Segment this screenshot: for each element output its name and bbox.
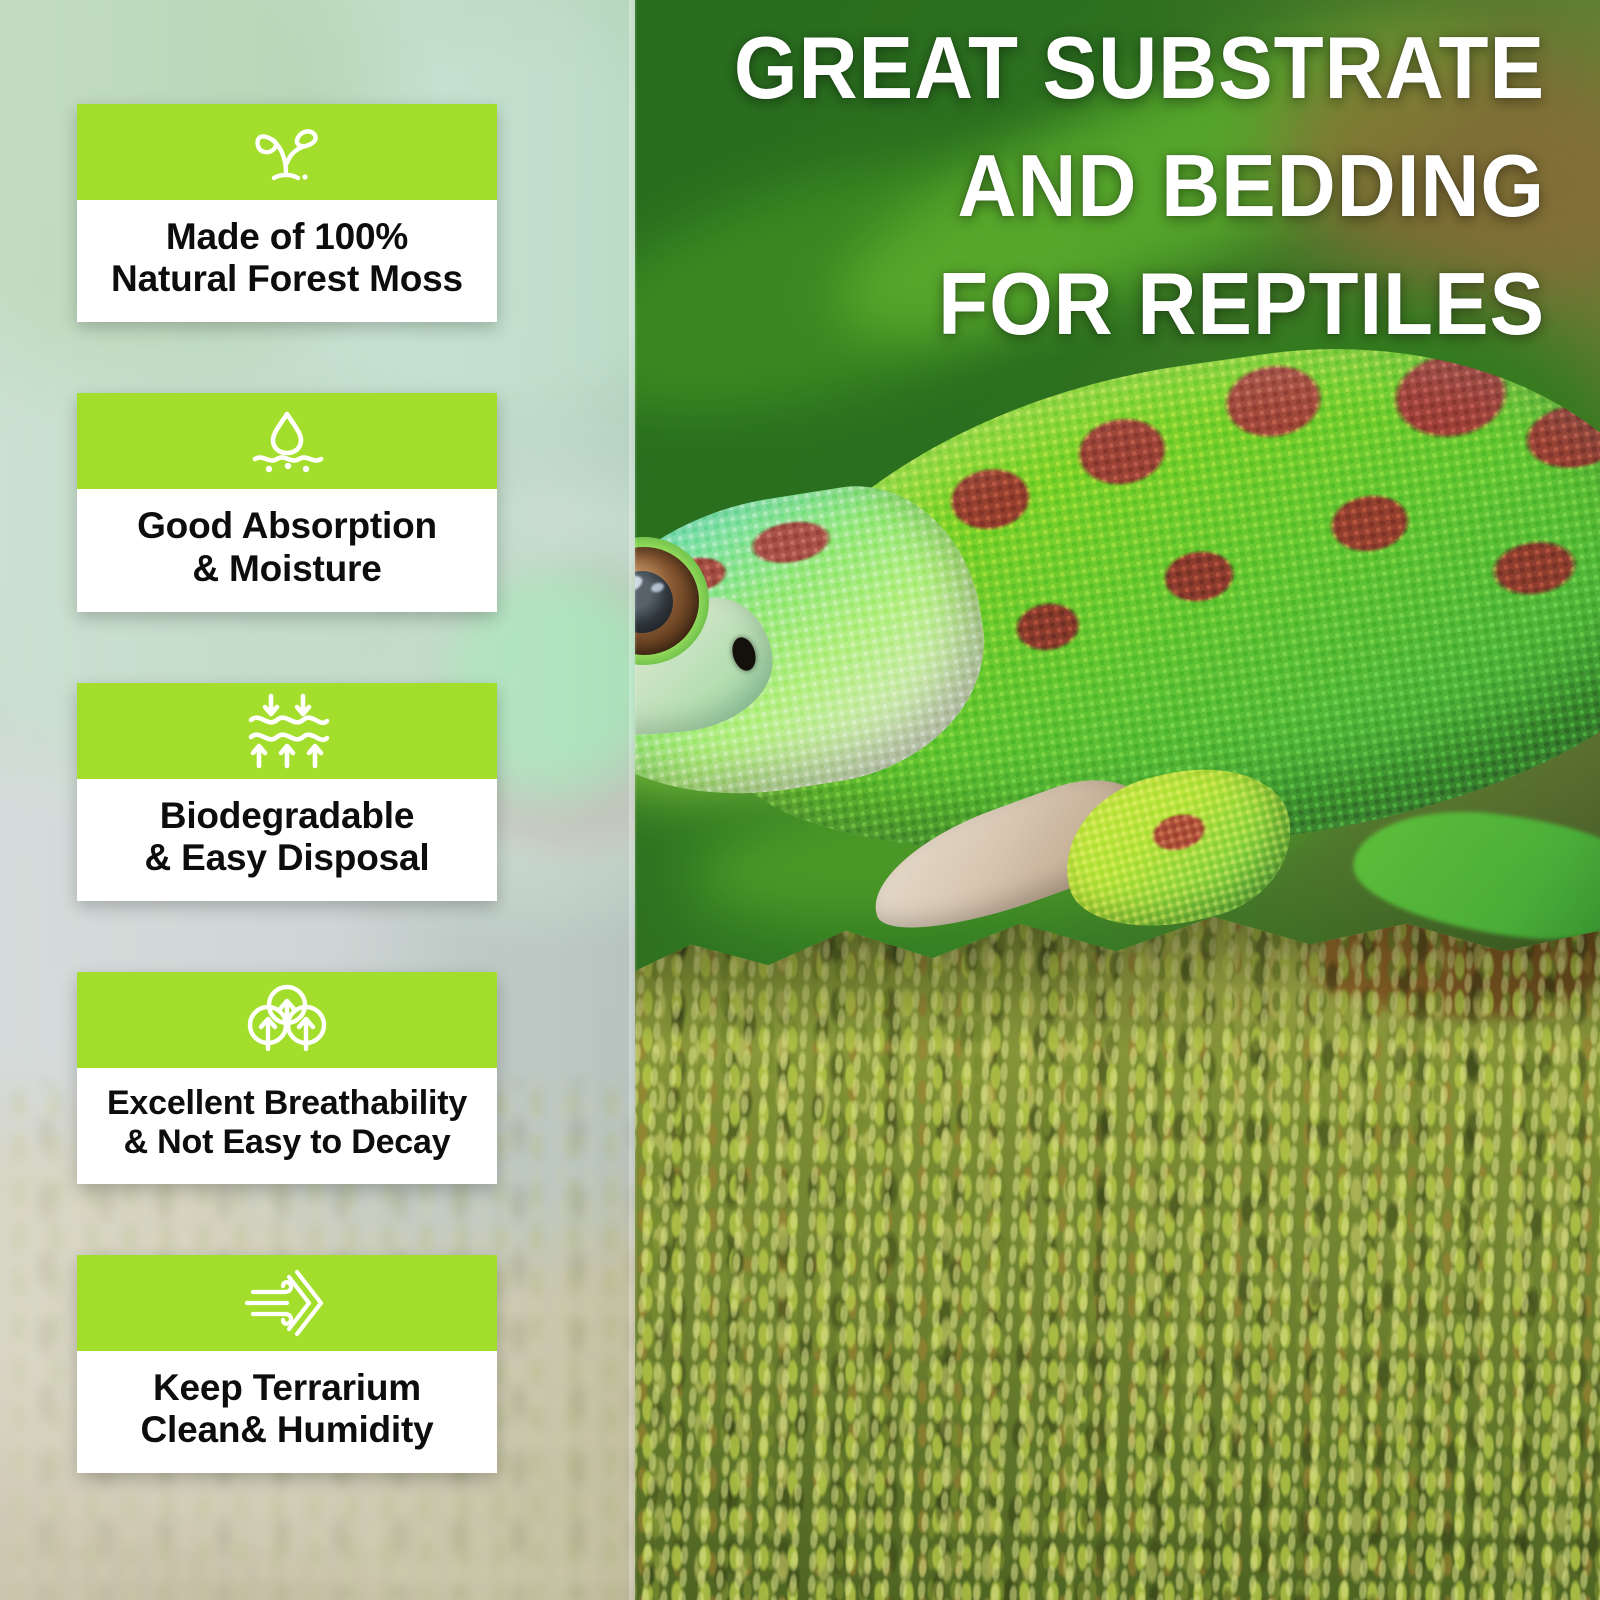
feature-card-keep-terrarium-clean: Keep Terrarium Clean& Humidity xyxy=(77,1255,497,1473)
feature-line-2: & Moisture xyxy=(87,548,487,590)
feature-line-1: Made of 100% xyxy=(87,216,487,258)
feature-card-natural-forest-moss: Made of 100% Natural Forest Moss xyxy=(77,104,497,322)
feature-line-2: & Easy Disposal xyxy=(87,837,487,879)
feature-card-list: Made of 100% Natural Forest Moss Good Ab… xyxy=(77,104,497,1473)
feature-line-1: Biodegradable xyxy=(87,795,487,837)
product-feature-banner: GREAT SUBSTRATE AND BEDDING FOR REPTILES… xyxy=(0,0,1600,1600)
moss-bedding xyxy=(633,910,1600,1600)
feature-card-label: Excellent Breathability & Not Easy to De… xyxy=(77,1068,497,1184)
feature-line-1: Good Absorption xyxy=(87,505,487,547)
feature-line-1: Excellent Breathability xyxy=(87,1084,487,1123)
airflow-waves-arrows-icon xyxy=(77,683,497,779)
feature-line-2: Clean& Humidity xyxy=(87,1409,487,1451)
feature-line-2: & Not Easy to Decay xyxy=(87,1123,487,1162)
sprout-icon xyxy=(77,104,497,200)
feature-card-label: Made of 100% Natural Forest Moss xyxy=(77,200,497,322)
feature-card-biodegradable: Biodegradable & Easy Disposal xyxy=(77,683,497,901)
feature-card-label: Keep Terrarium Clean& Humidity xyxy=(77,1351,497,1473)
gecko-illustration xyxy=(633,355,1600,995)
panel-seam xyxy=(629,0,637,1600)
feature-line-1: Keep Terrarium xyxy=(87,1367,487,1409)
feature-line-2: Natural Forest Moss xyxy=(87,258,487,300)
feature-card-good-absorption: Good Absorption & Moisture xyxy=(77,393,497,611)
headline-line-3: FOR REPTILES xyxy=(727,260,1545,348)
breathable-circles-arrows-icon xyxy=(77,972,497,1068)
page-title: GREAT SUBSTRATE AND BEDDING FOR REPTILES xyxy=(727,24,1545,378)
water-drop-waves-icon xyxy=(77,393,497,489)
feature-card-label: Good Absorption & Moisture xyxy=(77,489,497,611)
headline-line-1: GREAT SUBSTRATE xyxy=(727,24,1545,112)
gecko-tail xyxy=(1348,800,1600,951)
headline-line-2: AND BEDDING xyxy=(727,142,1545,230)
feature-card-label: Biodegradable & Easy Disposal xyxy=(77,779,497,901)
feature-card-excellent-breathability: Excellent Breathability & Not Easy to De… xyxy=(77,972,497,1184)
wind-arrow-icon xyxy=(77,1255,497,1351)
